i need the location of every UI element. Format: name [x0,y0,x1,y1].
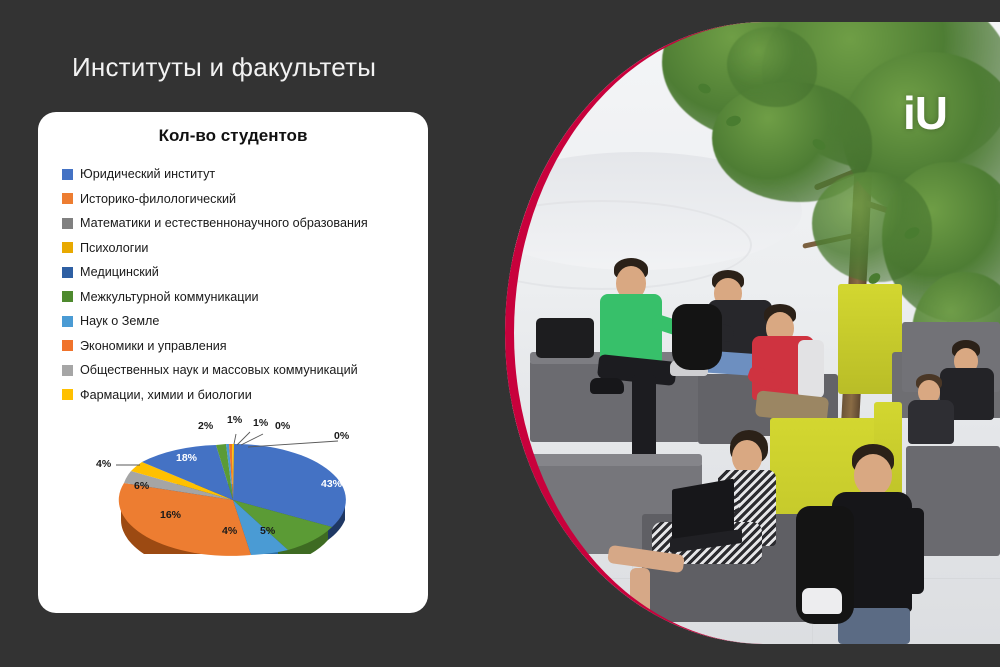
pie-slice-label: 4% [222,525,237,537]
pie-slice-label: 16% [160,509,181,521]
pie-slice-label: 18% [176,452,197,464]
pie-slice-label: 1% [227,414,242,426]
legend-item-label: Общественных наук и массовых коммуникаци… [80,363,358,377]
pie-slice-label: 6% [134,480,149,492]
legend-swatch-icon [62,291,73,302]
pie-chart: 43% 18% 6% 16% 4% 5% 4% 2% 1% 1% 0% 0% [38,408,428,608]
chart-legend: Юридический институт Историко-филологиче… [62,162,422,407]
legend-item[interactable]: Экономики и управления [62,334,422,359]
legend-item[interactable]: Историко-филологический [62,187,422,212]
pie-slice-label: 0% [334,430,349,442]
chart-title: Кол-во студентов [38,126,428,146]
pie-slice-label: 0% [275,420,290,432]
page-title: Институты и факультеты [72,52,376,83]
photo-panel: iU [505,22,1000,644]
university-logo: iU [903,90,947,136]
legend-item[interactable]: Медицинский [62,260,422,285]
legend-item-label: Математики и естественнонаучного образов… [80,216,368,230]
legend-item-label: Экономики и управления [80,339,227,353]
legend-item[interactable]: Межкультурной коммуникации [62,285,422,310]
legend-item[interactable]: Математики и естественнонаучного образов… [62,211,422,236]
bag [536,318,594,358]
legend-item-label: Межкультурной коммуникации [80,290,259,304]
chart-card: Кол-во студентов Юридический институт Ис… [38,112,428,613]
legend-item-label: Психологии [80,241,148,255]
legend-item[interactable]: Наук о Земле [62,309,422,334]
legend-item-label: Медицинский [80,265,159,279]
legend-swatch-icon [62,365,73,376]
legend-swatch-icon [62,389,73,400]
bench [512,454,702,466]
legend-item-label: Историко-филологический [80,192,236,206]
legend-item[interactable]: Фармации, химии и биологии [62,383,422,408]
legend-swatch-icon [62,242,73,253]
backpack [672,304,722,370]
legend-swatch-icon [62,340,73,351]
pie-slice-label: 5% [260,525,275,537]
legend-swatch-icon [62,267,73,278]
pie-chart-svg [38,408,428,608]
legend-item-label: Наук о Земле [80,314,159,328]
pie-slice-label: 4% [96,458,111,470]
pie-slice-label: 43% [321,478,342,490]
legend-swatch-icon [62,169,73,180]
legend-item[interactable]: Общественных наук и массовых коммуникаци… [62,358,422,383]
legend-item[interactable]: Юридический институт [62,162,422,187]
legend-item-label: Юридический институт [80,167,215,181]
legend-item[interactable]: Психологии [62,236,422,261]
pie-top-face [119,444,346,556]
legend-swatch-icon [62,218,73,229]
legend-swatch-icon [62,193,73,204]
legend-swatch-icon [62,316,73,327]
legend-item-label: Фармации, химии и биологии [80,388,252,402]
presentation-slide: Институты и факультеты Кол-во студентов … [0,0,1000,667]
pie-slice-label: 2% [198,420,213,432]
pie-slice-label: 1% [253,417,268,429]
